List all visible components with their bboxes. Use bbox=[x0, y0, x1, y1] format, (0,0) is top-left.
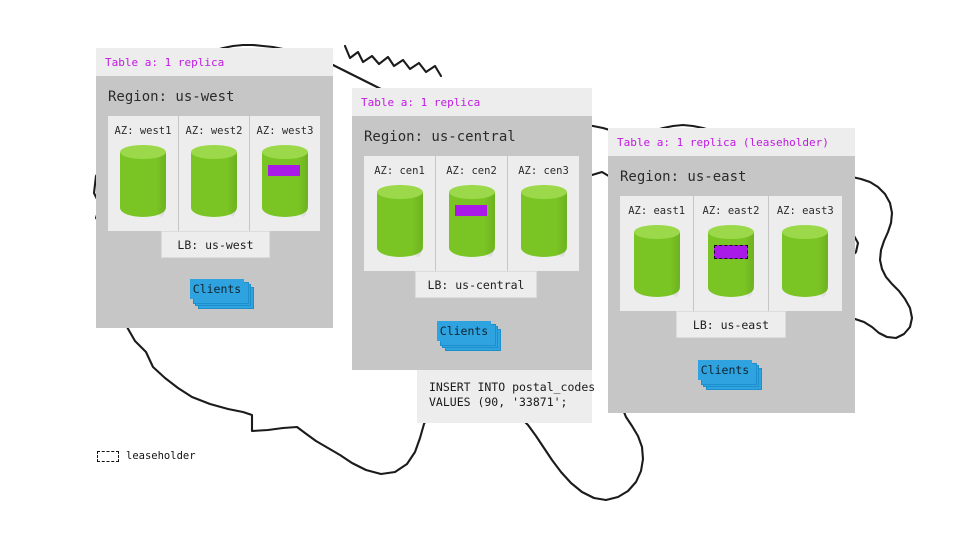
clients-us-east[interactable]: Clients bbox=[698, 360, 762, 390]
az-label: AZ: west1 bbox=[115, 125, 172, 137]
az-east3[interactable]: AZ: east3 bbox=[769, 196, 842, 311]
az-label: AZ: east2 bbox=[703, 205, 760, 217]
az-label: AZ: cen1 bbox=[374, 165, 425, 177]
az-label: AZ: cen3 bbox=[518, 165, 569, 177]
region-header-us-west: Table a: 1 replica bbox=[96, 48, 333, 76]
az-label: AZ: west3 bbox=[257, 125, 314, 137]
clients-us-west[interactable]: Clients bbox=[190, 279, 254, 309]
diagram-canvas: 2 Table a: 1 replica Region: us-west AZ:… bbox=[0, 0, 960, 540]
cylinder-node[interactable] bbox=[634, 225, 680, 297]
clients-label: Clients bbox=[190, 279, 244, 299]
cylinder-node[interactable] bbox=[521, 185, 567, 257]
az-container-us-central: AZ: cen1 AZ: cen2 AZ: cen3 bbox=[364, 156, 579, 271]
legend-label: leaseholder bbox=[126, 450, 196, 462]
leaseholder-marker-east2 bbox=[714, 245, 748, 259]
clients-label: Clients bbox=[437, 321, 491, 341]
az-east2[interactable]: AZ: east2 bbox=[694, 196, 768, 311]
region-title-us-east: Region: us-east bbox=[608, 156, 855, 184]
az-container-us-east: AZ: east1 AZ: east2 AZ: east3 bbox=[620, 196, 842, 311]
az-east1[interactable]: AZ: east1 bbox=[620, 196, 694, 311]
region-title-us-central: Region: us-central bbox=[352, 116, 592, 144]
az-label: AZ: west2 bbox=[186, 125, 243, 137]
region-header-us-east: Table a: 1 replica (leaseholder) bbox=[608, 128, 855, 156]
map-north-border-detail bbox=[345, 46, 441, 76]
cylinder-node[interactable] bbox=[782, 225, 828, 297]
az-container-us-west: AZ: west1 AZ: west2 AZ: west3 bbox=[108, 116, 320, 231]
clients-us-central[interactable]: Clients bbox=[437, 321, 501, 351]
region-panel-us-central: Table a: 1 replica Region: us-central AZ… bbox=[352, 88, 592, 370]
az-cen3[interactable]: AZ: cen3 bbox=[508, 156, 579, 271]
replica-marker-west3 bbox=[268, 165, 300, 176]
az-west3[interactable]: AZ: west3 bbox=[250, 116, 320, 231]
az-label: AZ: cen2 bbox=[446, 165, 497, 177]
az-west2[interactable]: AZ: west2 bbox=[179, 116, 250, 231]
az-west1[interactable]: AZ: west1 bbox=[108, 116, 179, 231]
cylinder-node[interactable] bbox=[377, 185, 423, 257]
region-title-us-west: Region: us-west bbox=[96, 76, 333, 104]
clients-label: Clients bbox=[698, 360, 752, 380]
az-cen1[interactable]: AZ: cen1 bbox=[364, 156, 436, 271]
region-panel-us-east: Table a: 1 replica (leaseholder) Region:… bbox=[608, 128, 855, 413]
cylinder-node[interactable] bbox=[262, 145, 308, 217]
legend: leaseholder bbox=[97, 450, 196, 462]
az-label: AZ: east1 bbox=[628, 205, 685, 217]
lb-us-west[interactable]: LB: us-west bbox=[161, 231, 270, 258]
replica-marker-cen2 bbox=[455, 205, 487, 216]
lb-us-east[interactable]: LB: us-east bbox=[676, 311, 786, 338]
az-cen2[interactable]: AZ: cen2 bbox=[436, 156, 508, 271]
sql-statement-box: INSERT INTO postal_codes VALUES (90, '33… bbox=[417, 370, 592, 423]
region-panel-us-west: Table a: 1 replica Region: us-west AZ: w… bbox=[96, 48, 333, 328]
az-label: AZ: east3 bbox=[777, 205, 834, 217]
dashed-rectangle-icon bbox=[97, 451, 119, 462]
region-header-us-central: Table a: 1 replica bbox=[352, 88, 592, 116]
lb-us-central[interactable]: LB: us-central bbox=[415, 271, 537, 298]
cylinder-node[interactable] bbox=[191, 145, 237, 217]
cylinder-node[interactable] bbox=[449, 185, 495, 257]
cylinder-node[interactable] bbox=[120, 145, 166, 217]
cylinder-node[interactable] bbox=[708, 225, 754, 297]
